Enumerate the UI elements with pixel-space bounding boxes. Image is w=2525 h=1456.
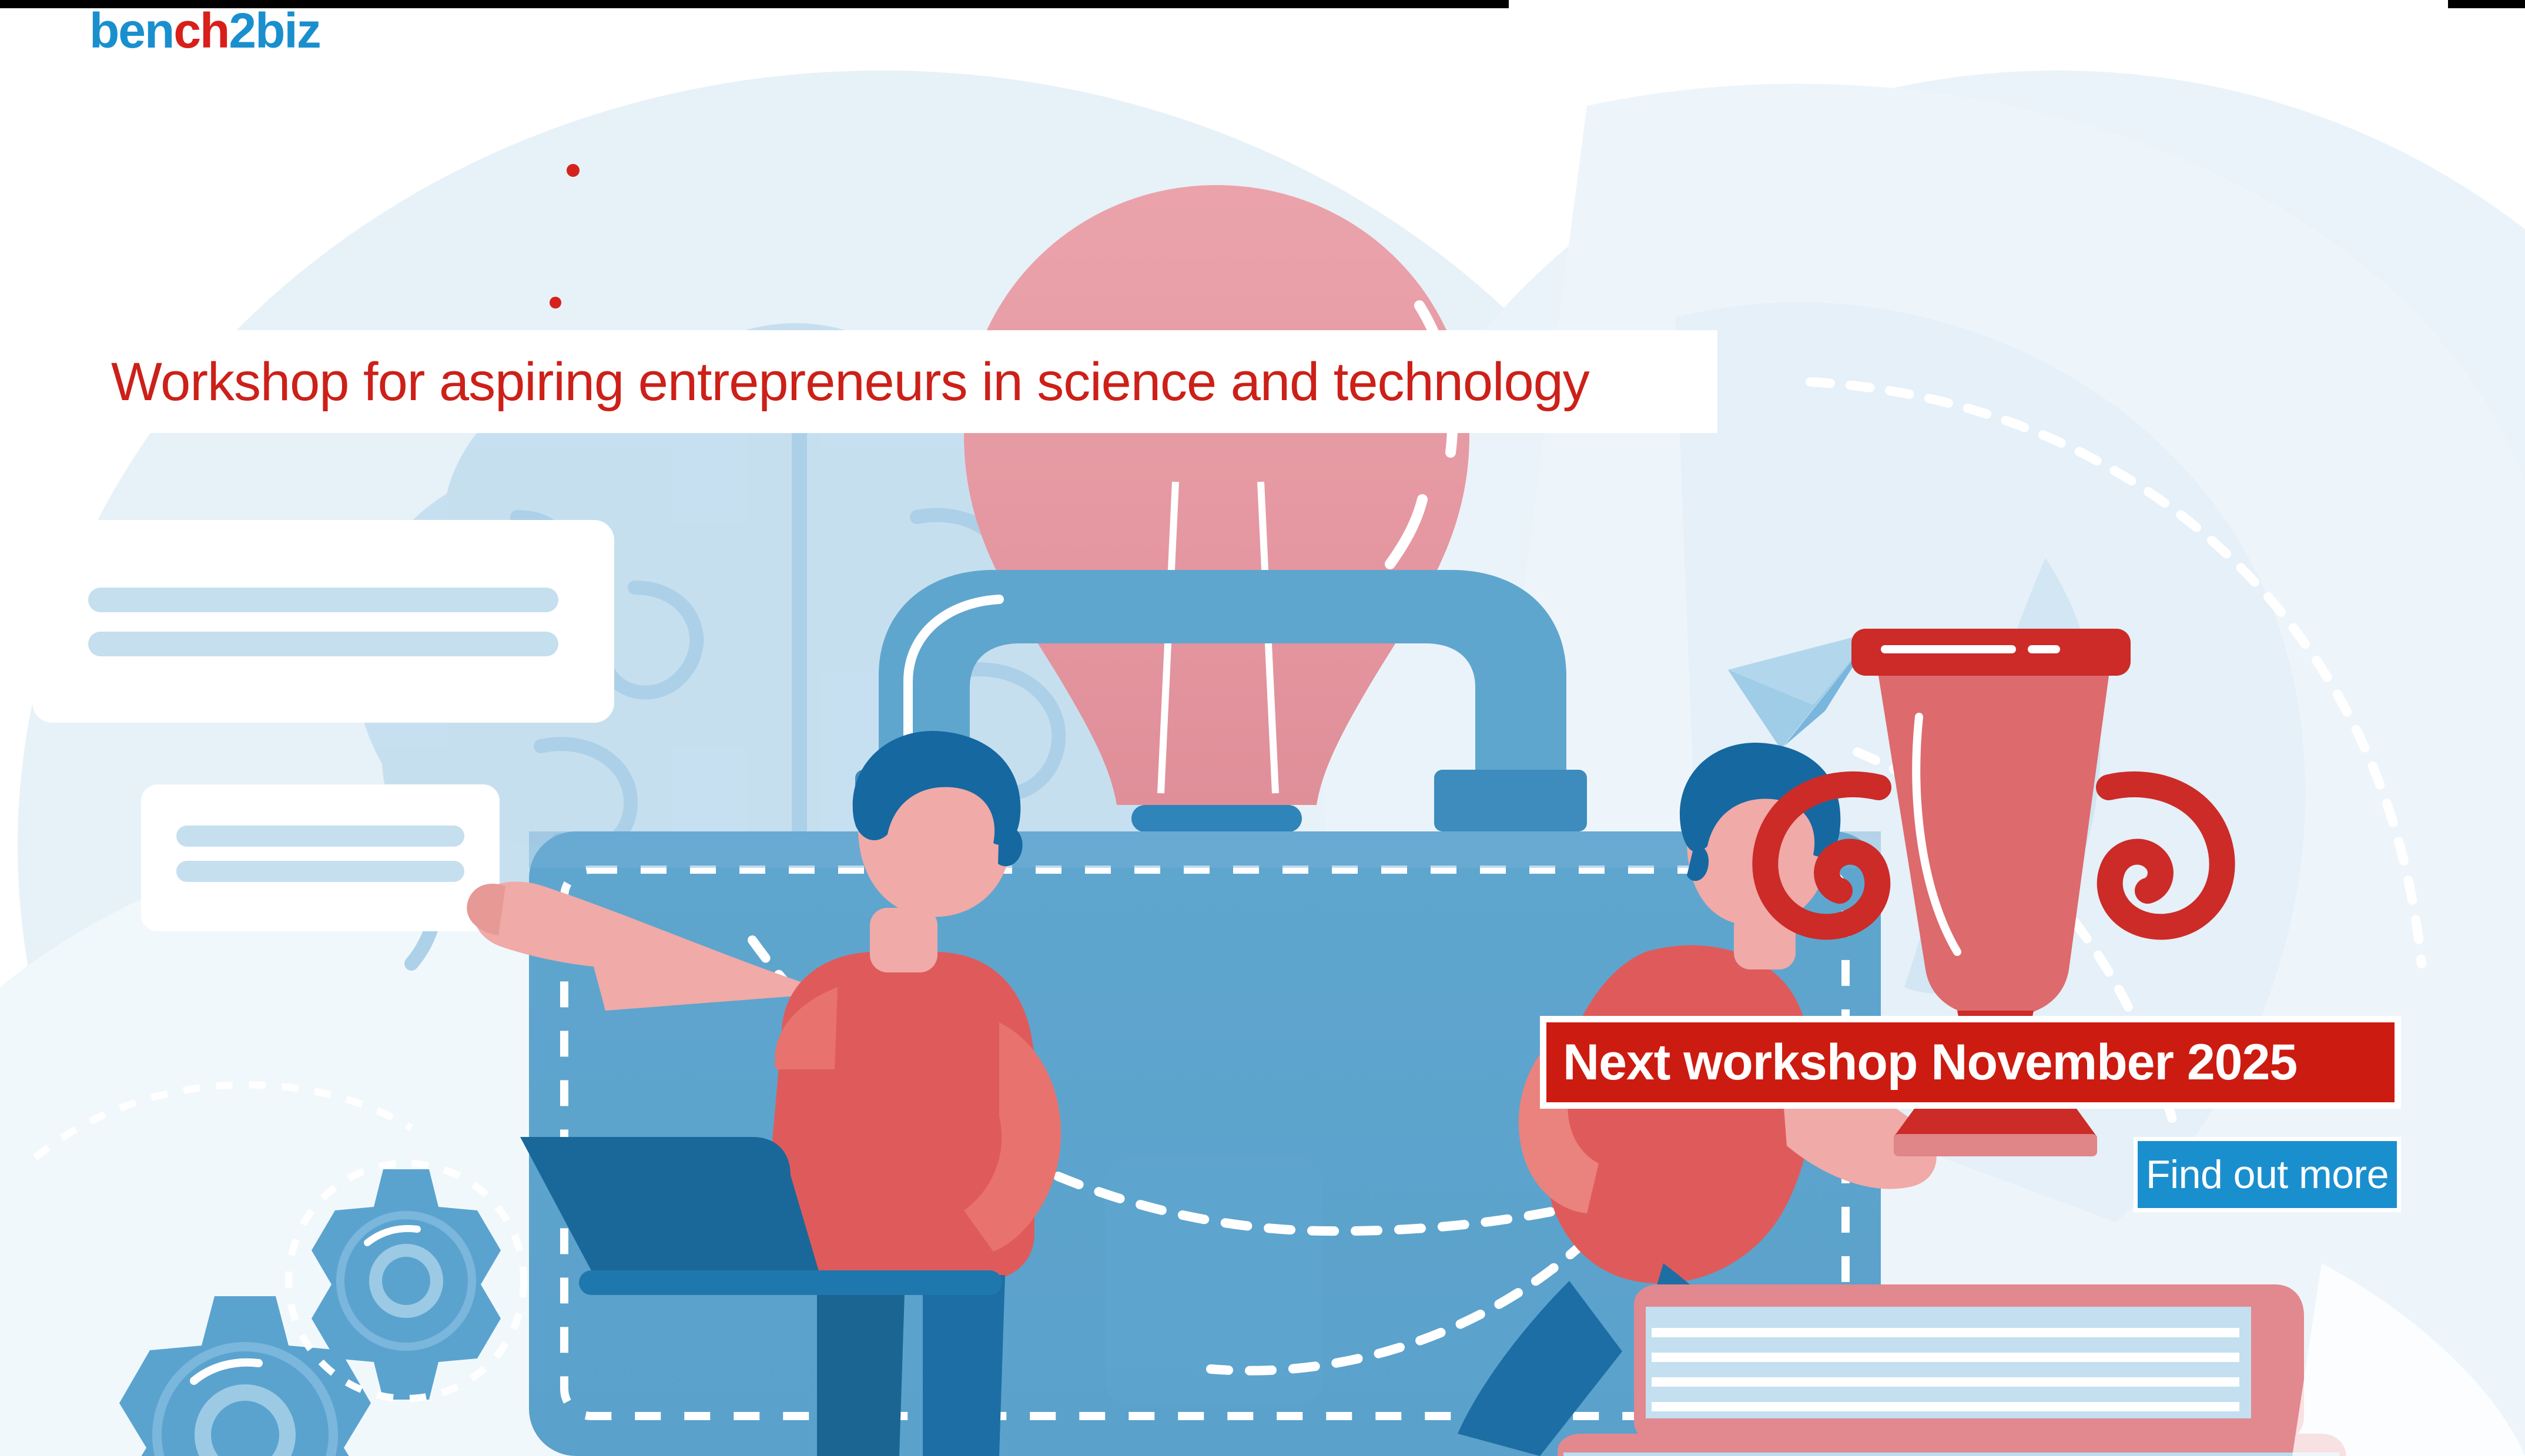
- chat-card-lower-bg: [141, 784, 500, 931]
- chat-card-upper-bg: [32, 520, 614, 723]
- lightbulb-screw-1: [1131, 805, 1302, 832]
- laptop-base: [579, 1270, 1002, 1295]
- chat-card-lower: [141, 784, 500, 931]
- book-top-page-line-4: [1652, 1402, 2239, 1411]
- find-out-more-button[interactable]: Find out more: [2134, 1137, 2401, 1212]
- hero-headline-band: Workshop for aspiring entrepreneurs in s…: [96, 330, 1717, 433]
- chat-card-upper-line-1: [88, 588, 558, 612]
- briefcase-handle-foot-right: [1434, 770, 1587, 831]
- browser-top-bar-right: [2448, 0, 2525, 8]
- logo-part-2biz: 2biz: [229, 3, 320, 58]
- book-top-page-line-1: [1652, 1328, 2239, 1337]
- person-leg-right: [923, 1275, 1005, 1456]
- hero-illustration-svg: [0, 71, 2525, 1456]
- book-top-pages: [1646, 1307, 2251, 1418]
- trophy-base-top: [1894, 1105, 2097, 1137]
- site-logo[interactable]: bench2biz: [89, 6, 320, 55]
- chat-card-upper: [32, 520, 614, 723]
- book-top-page-line-2: [1652, 1353, 2239, 1362]
- red-dot-lower: [550, 297, 561, 308]
- page-root: bench2biz: [0, 0, 2525, 1456]
- trophy-top-bar-highlight-2: [2028, 645, 2060, 653]
- book-stack: [1558, 1284, 2346, 1456]
- chat-card-upper-line-2: [88, 632, 558, 656]
- red-dot-upper: [567, 164, 580, 177]
- chat-card-lower-line-1: [176, 826, 464, 847]
- briefcase-top-edge: [529, 831, 1881, 868]
- person-leg-left: [817, 1275, 905, 1456]
- trophy-top-bar-highlight: [1881, 645, 2016, 653]
- book-top-page-line-3: [1652, 1377, 2239, 1387]
- next-workshop-banner-text: Next workshop November 2025: [1546, 1037, 2297, 1088]
- hero-headline: Workshop for aspiring entrepreneurs in s…: [96, 355, 1589, 409]
- person-neck: [870, 908, 937, 972]
- find-out-more-button-label: Find out more: [2146, 1155, 2389, 1195]
- next-workshop-banner: Next workshop November 2025: [1540, 1016, 2401, 1109]
- book-bottom-pages: [1563, 1452, 2339, 1456]
- chat-card-lower-line-2: [176, 861, 464, 882]
- hero-illustration: [0, 71, 2525, 1456]
- logo-part-ch: ch: [173, 3, 229, 58]
- trophy-base: [1894, 1134, 2097, 1156]
- logo-part-ben: ben: [89, 3, 173, 58]
